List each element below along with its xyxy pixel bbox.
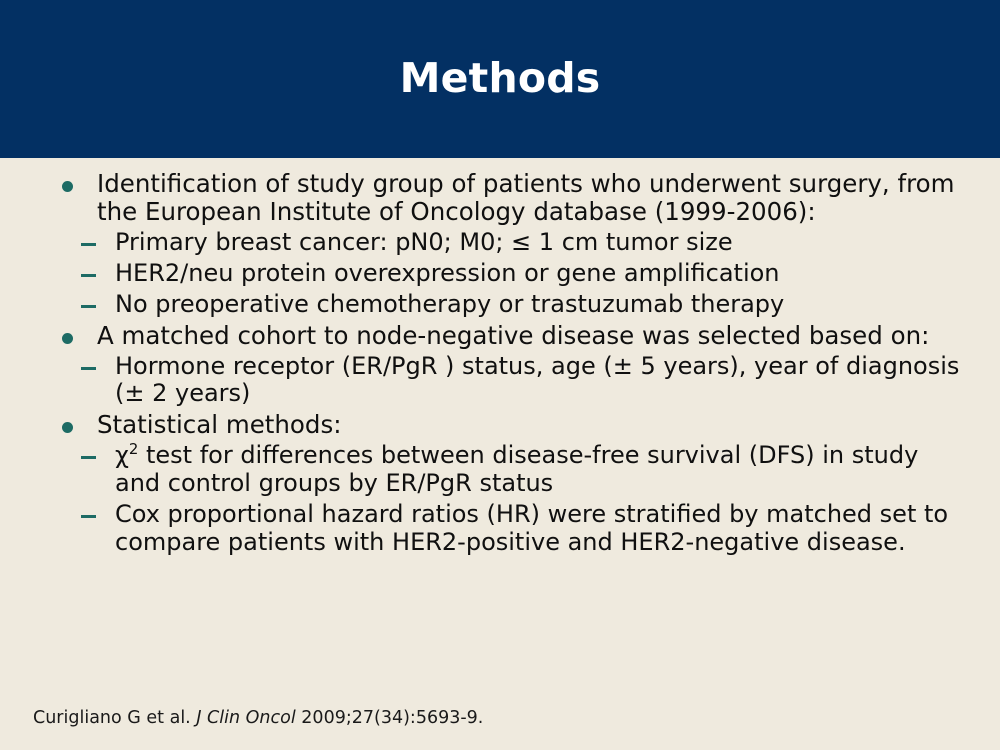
bullet-text: A matched cohort to node-negative diseas…: [97, 321, 929, 350]
bullet-dash-icon: [81, 456, 96, 459]
bullet-dot-icon: [62, 181, 73, 192]
list-item: Cox proportional hazard ratios (HR) were…: [73, 501, 970, 557]
sub-bullet-list: χ2 test for differences between disease-…: [30, 442, 970, 556]
bullet-dot-icon: [62, 333, 73, 344]
sub-bullet-text: Primary breast cancer: pN0; M0; ≤ 1 cm t…: [115, 228, 733, 256]
slide-body: Identification of study group of patient…: [0, 158, 1000, 694]
list-item: Primary breast cancer: pN0; M0; ≤ 1 cm t…: [73, 229, 970, 257]
sub-bullet-text: No preoperative chemotherapy or trastuzu…: [115, 290, 784, 318]
sub-bullet-text: Cox proportional hazard ratios (HR) were…: [115, 500, 948, 556]
citation-details: 2009;27(34):5693-9.: [301, 708, 483, 728]
bullet-list: Identification of study group of patient…: [30, 170, 970, 557]
list-item: No preoperative chemotherapy or trastuzu…: [73, 291, 970, 319]
citation: Curigliano G et al. J Clin Oncol 2009;27…: [33, 708, 483, 728]
chi-symbol: χ: [115, 441, 129, 469]
citation-authors: Curigliano G et al.: [33, 708, 191, 728]
sub-bullet-text: test for differences between disease-fre…: [115, 441, 918, 497]
sub-bullet-text: HER2/neu protein overexpression or gene …: [115, 259, 780, 287]
list-item: Statistical methods:: [30, 411, 970, 439]
page-title: Methods: [400, 58, 601, 99]
bullet-dash-icon: [81, 305, 96, 308]
bullet-dash-icon: [81, 515, 96, 518]
list-item: Hormone receptor (ER/PgR ) status, age (…: [73, 353, 970, 409]
list-item: HER2/neu protein overexpression or gene …: [73, 260, 970, 288]
slide: Methods Identification of study group of…: [0, 0, 1000, 750]
slide-title-band: Methods: [0, 0, 1000, 158]
list-item: χ2 test for differences between disease-…: [73, 442, 970, 498]
bullet-text: Statistical methods:: [97, 410, 341, 439]
bullet-dash-icon: [81, 243, 96, 246]
sub-bullet-list: Primary breast cancer: pN0; M0; ≤ 1 cm t…: [30, 229, 970, 318]
chi-exponent: 2: [129, 440, 138, 458]
list-item: Identification of study group of patient…: [30, 170, 970, 226]
bullet-dash-icon: [81, 367, 96, 370]
bullet-dot-icon: [62, 422, 73, 433]
sub-bullet-text: Hormone receptor (ER/PgR ) status, age (…: [115, 352, 959, 408]
bullet-text: Identification of study group of patient…: [97, 169, 955, 226]
list-item: A matched cohort to node-negative diseas…: [30, 322, 970, 350]
bullet-dash-icon: [81, 274, 96, 277]
citation-journal: J Clin Oncol: [196, 708, 295, 728]
sub-bullet-list: Hormone receptor (ER/PgR ) status, age (…: [30, 353, 970, 409]
